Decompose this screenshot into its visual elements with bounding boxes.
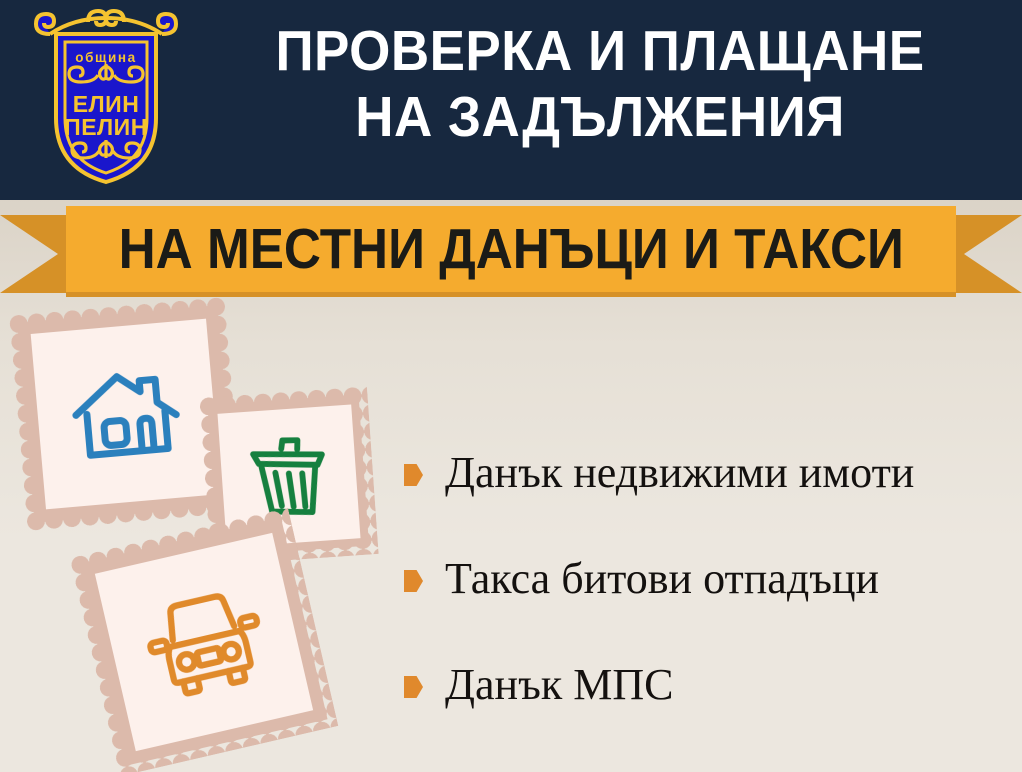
bullet-arrow-icon	[404, 676, 423, 698]
list-item-label: Данък недвижими имоти	[445, 449, 914, 497]
tax-types-list: Данък недвижими имоти Такса битови отпад…	[404, 420, 1014, 738]
car-icon	[128, 566, 279, 717]
municipality-logo: община ЕЛИН ПЕЛИН	[26, 8, 186, 188]
stamp-vehicle-paper	[95, 533, 313, 751]
trash-bin-icon	[240, 427, 338, 525]
list-item-label: Данък МПС	[445, 661, 673, 709]
list-item-label: Такса битови отпадъци	[445, 555, 879, 603]
ribbon-label: НА МЕСТНИ ДАНЪЦИ И ТАКСИ	[118, 220, 903, 278]
list-item[interactable]: Данък МПС	[404, 632, 1014, 738]
coat-of-arms-icon: община ЕЛИН ПЕЛИН	[26, 8, 186, 188]
header-bar: община ЕЛИН ПЕЛИН	[0, 0, 1022, 200]
bullet-arrow-icon	[404, 570, 423, 592]
poster-root: община ЕЛИН ПЕЛИН	[0, 0, 1022, 772]
bullet-arrow-icon	[404, 464, 423, 486]
stamp-house-paper	[31, 319, 222, 510]
list-item[interactable]: Данък недвижими имоти	[404, 420, 1014, 526]
logo-text-obshtina: община	[75, 50, 137, 65]
ribbon-body: НА МЕСТНИ ДАНЪЦИ И ТАКСИ	[66, 206, 956, 292]
subtitle-ribbon: НА МЕСТНИ ДАНЪЦИ И ТАКСИ	[0, 200, 1022, 298]
page-title-line-2: НА ЗАДЪЛЖЕНИЯ	[219, 84, 982, 150]
page-title-line-1: ПРОВЕРКА И ПЛАЩАНЕ	[219, 18, 982, 84]
list-item[interactable]: Такса битови отпадъци	[404, 526, 1014, 632]
page-title: ПРОВЕРКА И ПЛАЩАНЕ НА ЗАДЪЛЖЕНИЯ	[190, 18, 1010, 150]
house-icon	[61, 349, 191, 479]
logo-text-pelin: ПЕЛИН	[64, 114, 148, 140]
